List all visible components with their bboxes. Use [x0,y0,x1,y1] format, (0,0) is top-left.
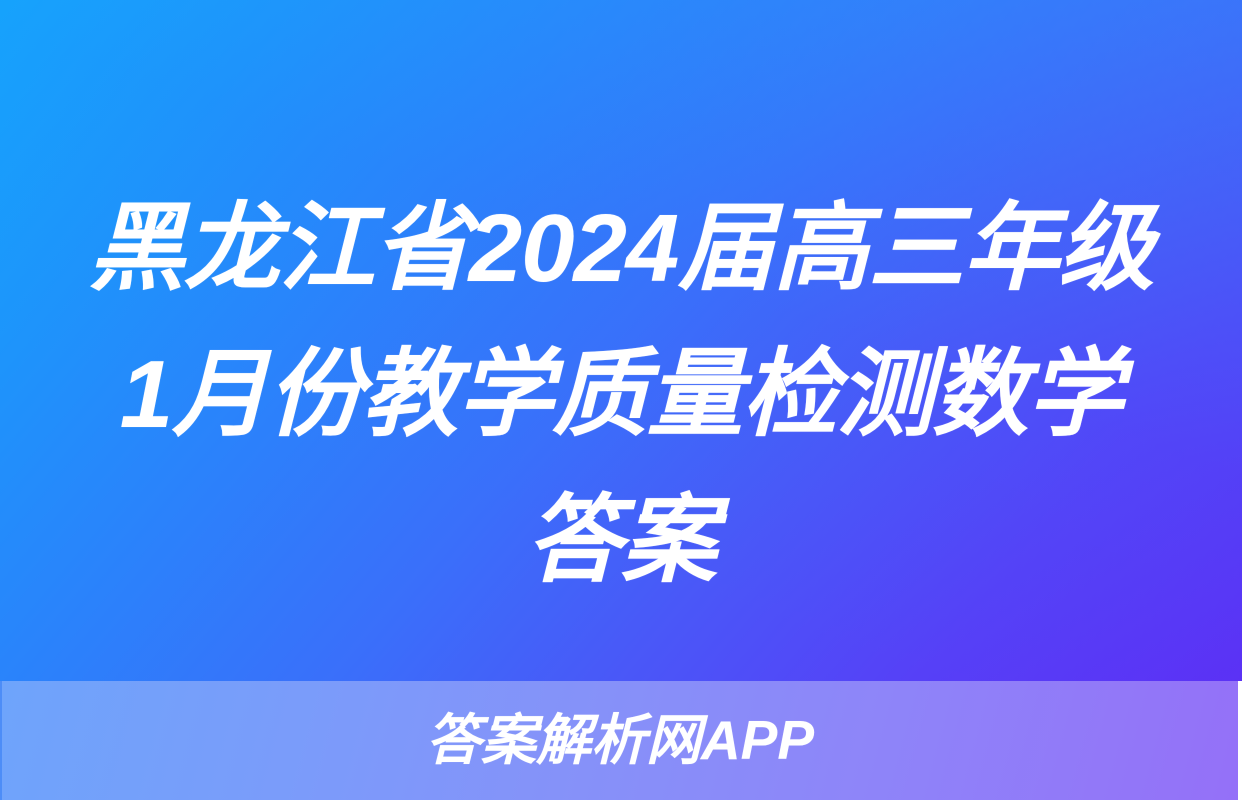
brand-footer-banner[interactable]: 答案解析网APP [0,681,1238,800]
brand-watermark-label: 答案解析网APP [426,713,814,768]
footer-right-edge-spacer [1238,681,1242,800]
hero-gradient-panel: 黑龙江省2024届高三年级1月份教学质量检测数学答案 [0,0,1242,681]
promo-card: 黑龙江省2024届高三年级1月份教学质量检测数学答案 答案解析网APP [0,0,1242,800]
page-title: 黑龙江省2024届高三年级1月份教学质量检测数学答案 [0,176,1242,614]
